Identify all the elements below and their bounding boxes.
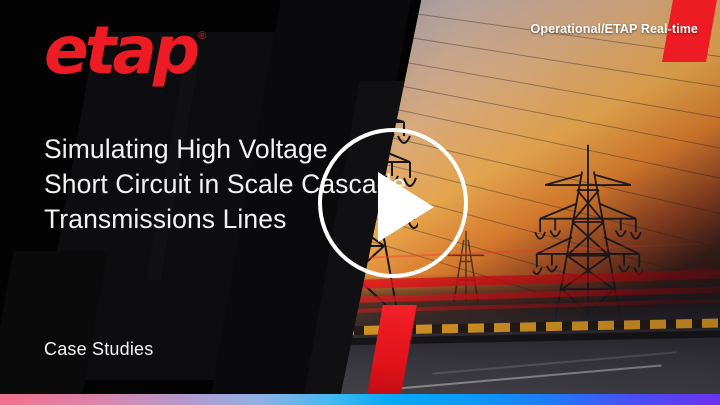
play-button[interactable] [318, 128, 468, 278]
etap-logo[interactable]: etap ® [44, 20, 206, 83]
video-thumbnail-card[interactable]: etap ® Operational/ETAP Real-time Simula… [0, 0, 720, 405]
logo-wordmark: etap [44, 20, 196, 83]
content-type-label: Case Studies [44, 339, 153, 360]
registered-trademark-icon: ® [198, 30, 206, 42]
category-badge: Operational/ETAP Real-time [531, 22, 698, 36]
background-shape [0, 251, 107, 405]
gradient-progress-bar[interactable] [0, 394, 720, 405]
